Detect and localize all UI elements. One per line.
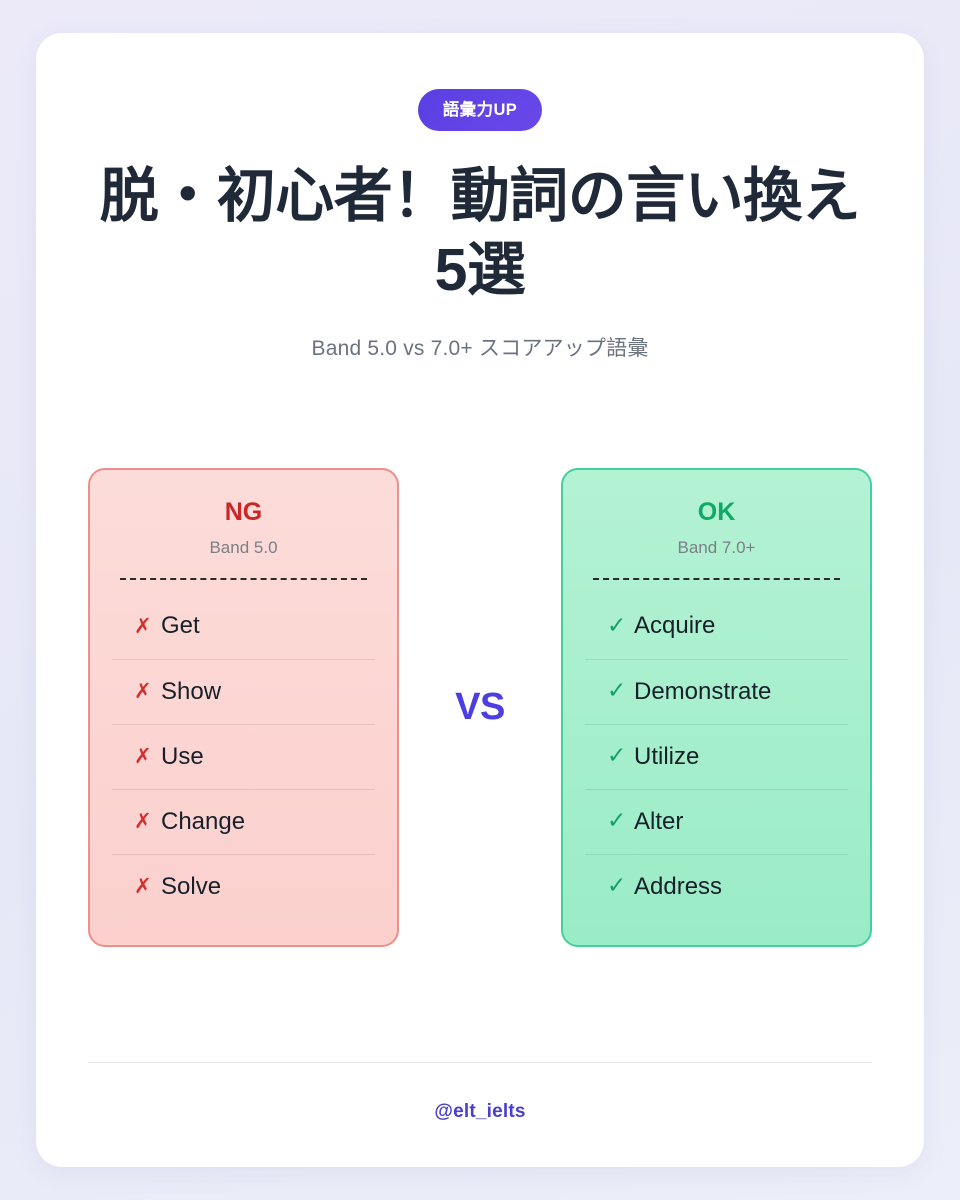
cross-icon: ✗ (134, 876, 150, 897)
ng-heading: NG (112, 500, 375, 525)
list-item: ✓ Utilize (585, 724, 848, 789)
check-icon: ✓ (607, 875, 623, 898)
ng-word: Solve (161, 873, 221, 901)
account-handle: @elt_ielts (88, 1101, 872, 1123)
list-item: ✗ Solve (112, 854, 375, 919)
ng-word: Get (161, 612, 200, 640)
ng-word: Change (161, 808, 245, 836)
list-item: ✗ Use (112, 724, 375, 789)
ng-dashed-divider (120, 578, 367, 580)
list-item: ✗ Change (112, 789, 375, 854)
ok-word: Demonstrate (634, 678, 771, 706)
ok-word-list: ✓ Acquire ✓ Demonstrate ✓ Utilize ✓ Alte… (585, 594, 848, 919)
ok-band-label: Band 7.0+ (585, 539, 848, 556)
vs-label: VS (447, 684, 513, 730)
ok-heading: OK (585, 500, 848, 525)
list-item: ✓ Alter (585, 789, 848, 854)
list-item: ✓ Demonstrate (585, 659, 848, 724)
ok-word: Utilize (634, 743, 699, 771)
content-card: 語彙力UP 脱・初心者！動詞の言い換え5選 Band 5.0 vs 7.0+ ス… (36, 33, 924, 1167)
page-subtitle: Band 5.0 vs 7.0+ スコアアップ語彙 (311, 332, 648, 362)
check-icon: ✓ (607, 615, 623, 638)
list-item: ✗ Get (112, 594, 375, 659)
page-title: 脱・初心者！動詞の言い換え5選 (88, 160, 872, 308)
ok-word: Address (634, 873, 722, 901)
list-item: ✓ Acquire (585, 594, 848, 659)
cross-icon: ✗ (134, 811, 150, 832)
page-root: 語彙力UP 脱・初心者！動詞の言い換え5選 Band 5.0 vs 7.0+ ス… (0, 0, 960, 1200)
footer-divider (88, 1062, 872, 1063)
ng-word: Use (161, 743, 204, 771)
ok-word: Alter (634, 808, 683, 836)
check-icon: ✓ (607, 680, 623, 703)
ok-word: Acquire (634, 612, 715, 640)
ng-word-list: ✗ Get ✗ Show ✗ Use ✗ Change (112, 594, 375, 919)
ng-band-label: Band 5.0 (112, 539, 375, 556)
comparison-section: NG Band 5.0 ✗ Get ✗ Show ✗ Use (88, 468, 872, 947)
ng-word: Show (161, 678, 221, 706)
check-icon: ✓ (607, 810, 623, 833)
list-item: ✗ Show (112, 659, 375, 724)
cross-icon: ✗ (134, 746, 150, 767)
ok-column: OK Band 7.0+ ✓ Acquire ✓ Demonstrate ✓ U… (561, 468, 872, 947)
check-icon: ✓ (607, 745, 623, 768)
category-badge: 語彙力UP (418, 89, 542, 131)
cross-icon: ✗ (134, 616, 150, 637)
list-item: ✓ Address (585, 854, 848, 919)
cross-icon: ✗ (134, 681, 150, 702)
ng-column: NG Band 5.0 ✗ Get ✗ Show ✗ Use (88, 468, 399, 947)
footer: @elt_ielts (88, 1062, 872, 1167)
ok-dashed-divider (593, 578, 840, 580)
